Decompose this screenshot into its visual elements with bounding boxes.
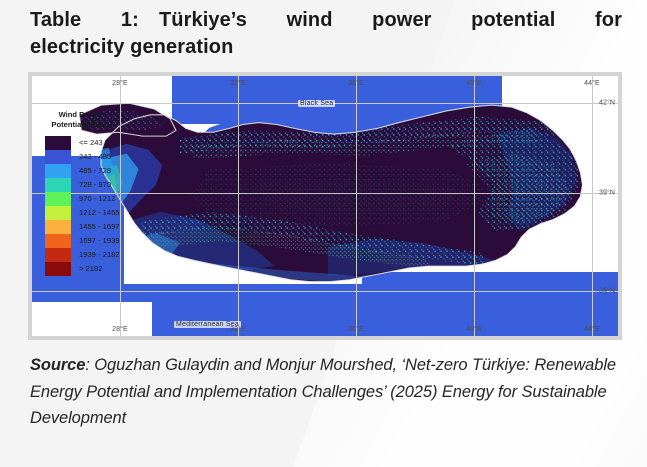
- legend-swatch-9: [45, 262, 71, 276]
- map-canvas: Black Sea Mediterranean Sea 28°E 32°E 36…: [32, 76, 618, 336]
- legend-title-line-1: Wind Power: [41, 110, 120, 120]
- source-caption: Source: Oguzhan Gulaydin and Monjur Mour…: [30, 352, 624, 432]
- graticule-line-32E: [238, 76, 239, 336]
- legend-label-0: <= 243: [79, 136, 103, 150]
- lon-tick-top-28E: 28°E: [112, 80, 128, 87]
- black-sea-label: Black Sea: [298, 100, 335, 107]
- legend-entry: > 2182: [41, 262, 120, 276]
- graticule-line-44E: [592, 76, 593, 336]
- page-title-line-2: electricity generation: [30, 34, 622, 61]
- legend-swatch-0: [45, 136, 71, 150]
- legend-swatch-2: [45, 164, 71, 178]
- source-text: : Oguzhan Gulaydin and Monjur Mourshed, …: [30, 356, 616, 427]
- lon-tick-bottom-44E: 44°E: [584, 326, 600, 333]
- legend-entry: 1939 - 2182: [41, 248, 120, 262]
- graticule-line-36E: [356, 76, 357, 336]
- legend-entry: 728 - 970: [41, 178, 120, 192]
- lon-tick-bottom-40E: 40°E: [466, 326, 482, 333]
- legend-swatch-1: [45, 150, 71, 164]
- lat-tick-39N: 39°N: [599, 190, 615, 197]
- page-title: Table 1: Türkiye’s wind power potential …: [30, 7, 622, 60]
- lon-tick-bottom-28E: 28°E: [112, 326, 128, 333]
- legend-entry: 243 - 485: [41, 150, 120, 164]
- legend-swatch-4: [45, 192, 71, 206]
- legend-entry: 1455 - 1697: [41, 220, 120, 234]
- legend-entry: 970 - 1212: [41, 192, 120, 206]
- lat-tick-36N: 36°N: [599, 288, 615, 295]
- legend-entry: 1212 - 1455: [41, 206, 120, 220]
- legend-label-9: > 2182: [79, 262, 102, 276]
- lon-tick-top-36E: 36°E: [348, 80, 364, 87]
- graticule-line-36N: [32, 291, 618, 292]
- page-title-line-1: Table 1: Türkiye’s wind power potential …: [30, 7, 622, 34]
- legend-label-7: 1697 - 1939: [79, 234, 120, 248]
- legend-title: Wind Power Potential (W/m²): [41, 110, 120, 129]
- legend-label-1: 243 - 485: [79, 150, 111, 164]
- legend-entry: <= 243: [41, 136, 120, 150]
- lon-tick-top-44E: 44°E: [584, 80, 600, 87]
- legend-label-4: 970 - 1212: [79, 192, 115, 206]
- legend-label-6: 1455 - 1697: [79, 220, 120, 234]
- legend-label-5: 1212 - 1455: [79, 206, 120, 220]
- map-figure-frame: Black Sea Mediterranean Sea 28°E 32°E 36…: [28, 72, 622, 340]
- legend-title-line-2: Potential (W/m²): [41, 120, 120, 130]
- legend-entry-list: <= 243 243 - 485 485 - 728 728 - 970: [41, 136, 120, 276]
- map-legend: Wind Power Potential (W/m²) <= 243 243 -…: [38, 108, 123, 278]
- legend-label-3: 728 - 970: [79, 178, 111, 192]
- legend-swatch-6: [45, 220, 71, 234]
- legend-swatch-5: [45, 206, 71, 220]
- graticule-line-40E: [474, 76, 475, 336]
- lat-tick-42N: 42°N: [599, 100, 615, 107]
- lon-tick-bottom-36E: 36°E: [348, 326, 364, 333]
- lon-tick-top-32E: 32°E: [230, 80, 246, 87]
- legend-label-2: 485 - 728: [79, 164, 111, 178]
- lon-tick-top-40E: 40°E: [466, 80, 482, 87]
- legend-label-8: 1939 - 2182: [79, 248, 120, 262]
- legend-swatch-7: [45, 234, 71, 248]
- lon-tick-bottom-32E: 32°E: [230, 326, 246, 333]
- source-label: Source: [30, 356, 85, 374]
- legend-entry: 485 - 728: [41, 164, 120, 178]
- legend-swatch-8: [45, 248, 71, 262]
- legend-entry: 1697 - 1939: [41, 234, 120, 248]
- slide-page: Table 1: Türkiye’s wind power potential …: [0, 0, 647, 467]
- legend-swatch-3: [45, 178, 71, 192]
